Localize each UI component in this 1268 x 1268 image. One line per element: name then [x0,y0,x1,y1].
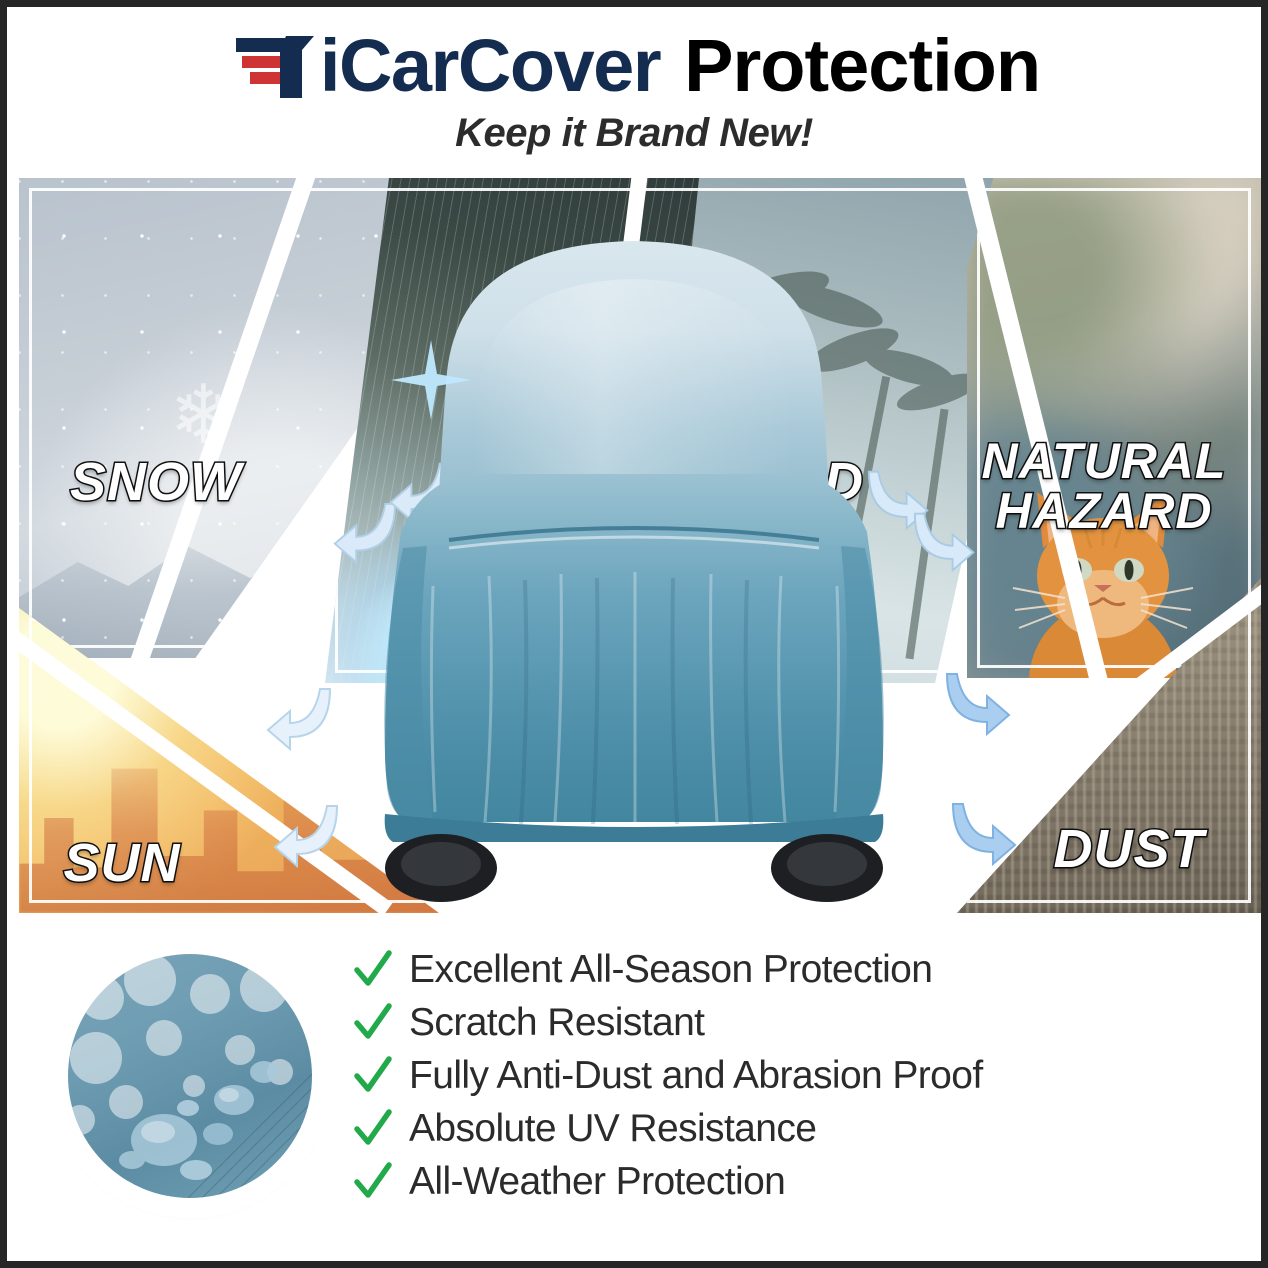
feature-list: Excellent All-Season Protection Scratch … [353,943,1261,1208]
page-subtitle: Keep it Brand New! [7,111,1261,156]
feature-label: Fully Anti-Dust and Abrasion Proof [409,1054,983,1098]
features-section: Excellent All-Season Protection Scratch … [7,913,1261,1243]
list-item: Fully Anti-Dust and Abrasion Proof [353,1049,1261,1102]
feature-label: All-Weather Protection [409,1160,785,1204]
panel-label-dust: DUST [1029,822,1229,876]
fabric-swatch-image [68,954,312,1198]
covered-car-product-image [329,196,939,913]
list-item: Scratch Resistant [353,996,1261,1049]
list-item: Absolute UV Resistance [353,1102,1261,1155]
curved-arrow-icon-dust-1 [945,668,1015,740]
feature-label: Absolute UV Resistance [409,1107,816,1151]
list-item: Excellent All-Season Protection [353,943,1261,996]
icarcover-wing-logo-icon [228,30,324,102]
feature-label: Excellent All-Season Protection [409,948,932,992]
panel-label-sun: SUN [37,836,207,890]
feature-label: Scratch Resistant [409,1001,704,1045]
curved-arrow-icon-sun-1 [262,683,332,755]
panel-natural-hazard [967,178,1261,678]
panel-label-natural-hazard-line1: NATURAL [982,433,1227,489]
check-icon [353,1162,393,1202]
check-icon [353,1056,393,1096]
fabric-swatch [59,945,321,1207]
snowflake-icon: ❄ [169,368,238,463]
panel-label-natural-hazard-line2: HAZARD [995,483,1212,539]
headline-suffix: Protection [684,29,1040,103]
hero-protection-collage: ❄ SNOW RAIN [7,178,1261,913]
check-icon [353,1109,393,1149]
panel-label-natural-hazard: NATURAL HAZARD [959,436,1249,536]
brand-name: iCarCover [320,29,660,103]
panel-label-snow: SNOW [41,455,271,509]
curved-arrow-icon-dust-2 [951,798,1021,870]
check-icon [353,950,393,990]
check-icon [353,1003,393,1043]
page-header: iCarCover Protection Keep it Brand New! [7,7,1261,156]
list-item: All-Weather Protection [353,1155,1261,1208]
brand-row: iCarCover Protection [7,29,1261,103]
